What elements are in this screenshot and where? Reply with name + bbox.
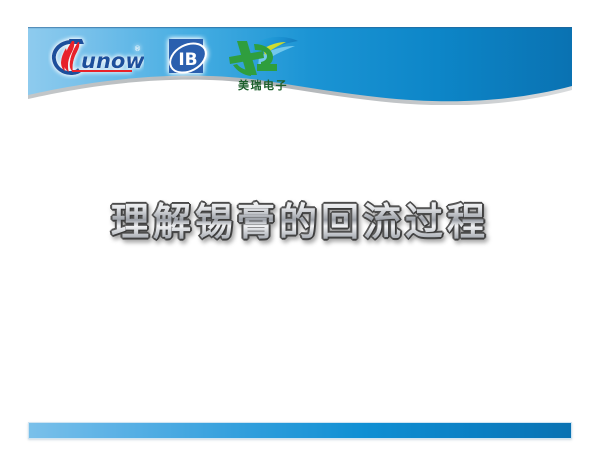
meirui-chinese-name: 美瑞电子 [238, 78, 288, 92]
logo-row: unow ® [28, 27, 572, 97]
ib-logo: IB [162, 34, 214, 82]
presentation-slide: unow ® [0, 0, 600, 463]
meirui-logo: 美瑞电子 [223, 31, 303, 93]
sunow-underline [72, 70, 132, 72]
footer-bar [28, 422, 572, 439]
ib-wordmark: IB [178, 50, 197, 70]
sunow-logo: unow ® [48, 35, 144, 79]
slide-title: 理解锡膏的回流过程 [0, 197, 600, 247]
sunow-registered-icon: ® [134, 45, 141, 53]
